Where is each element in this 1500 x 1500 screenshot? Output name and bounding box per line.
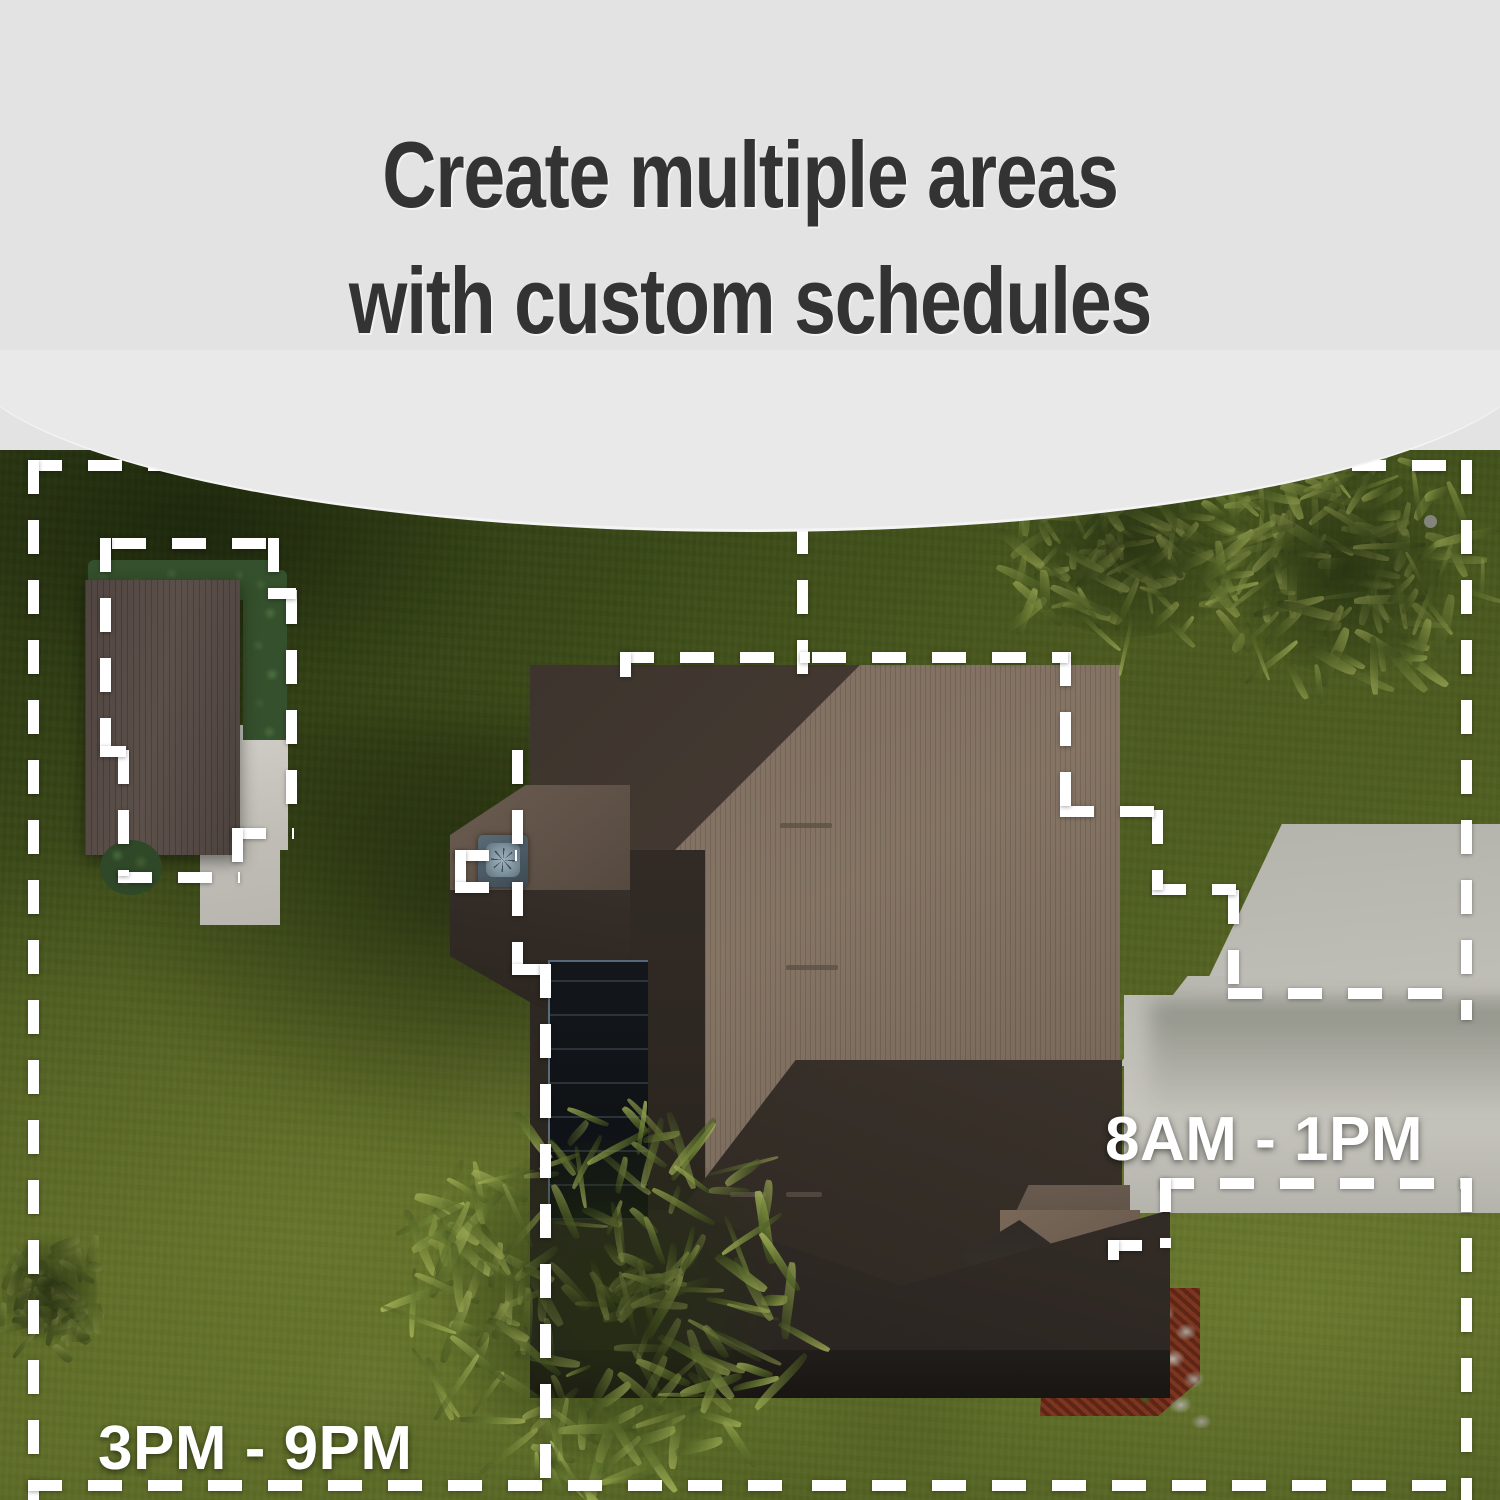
tree-foliage-frond — [534, 1452, 540, 1484]
tree-foliage-frond — [478, 1426, 541, 1475]
shrub-lower-left — [0, 1220, 110, 1360]
tree-bottom-center — [395, 1100, 825, 1500]
roof-vent-icon — [786, 965, 838, 970]
aerial-property-photo: 8AM - 1PM 3PM - 9PM 1PM - 3PM — [0, 420, 1500, 1500]
page-title: Create multiple areas with custom schedu… — [150, 112, 1350, 364]
tree-foliage-frond — [1370, 637, 1378, 695]
tree-foliage-frond — [408, 1269, 419, 1338]
tree-foliage-frond — [50, 1299, 86, 1308]
yard-object-dot — [1424, 515, 1437, 528]
tree-foliage-frond — [723, 1158, 764, 1188]
roof-vent-icon — [780, 823, 832, 828]
tree-foliage-frond — [1423, 486, 1450, 502]
schedule-label-8am-1pm: 8AM - 1PM — [1105, 1104, 1423, 1175]
tree-foliage-frond — [1318, 558, 1350, 569]
tree-foliage-frond — [83, 1234, 101, 1264]
tree-foliage-frond — [1479, 558, 1485, 607]
schedule-label-3pm-9pm: 3PM - 9PM — [98, 1413, 413, 1484]
